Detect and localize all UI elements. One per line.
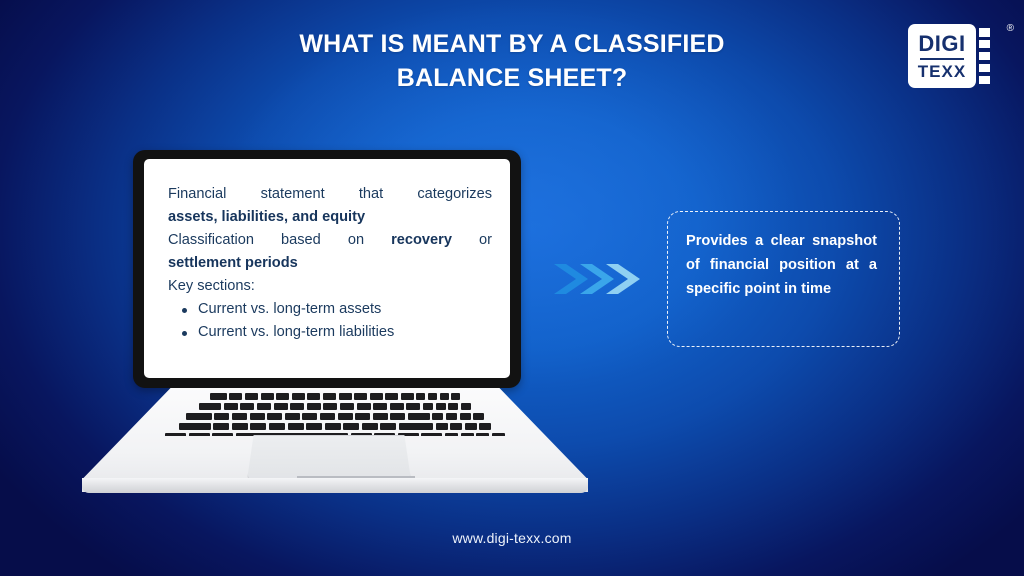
- screen-line-1-bold: assets, liabilities, and equity: [168, 206, 492, 229]
- title-line-1: WHAT IS MEANT BY A CLASSIFIED: [299, 30, 724, 58]
- keyboard-row: [82, 423, 588, 430]
- list-item: Current vs. long-term liabilities: [168, 321, 492, 344]
- digitexx-logo[interactable]: DIGI TEXX ®: [908, 24, 1004, 88]
- laptop-illustration: Financial statement that categorizes ass…: [82, 150, 588, 498]
- laptop-lid: Financial statement that categorizes ass…: [133, 150, 521, 388]
- slide-background: WHAT IS MEANT BY A CLASSIFIED BALANCE SH…: [0, 0, 1024, 576]
- callout-text: Provides a clear snapshot of financial p…: [686, 230, 877, 301]
- laptop-base-edge: [82, 478, 588, 493]
- callout-box: Provides a clear snapshot of financial p…: [667, 211, 900, 347]
- screen-line-2-plain-a: Classification based on: [168, 232, 391, 248]
- list-item: Current vs. long-term assets: [168, 298, 492, 321]
- screen-key-sections-label: Key sections:: [168, 275, 492, 298]
- logo-filmstrip-icon: [979, 24, 995, 88]
- logo-divider-rule: [920, 58, 964, 60]
- footer-url[interactable]: www.digi-texx.com: [0, 530, 1024, 546]
- laptop-trackpad: [247, 435, 411, 480]
- screen-line-1: Financial statement that categorizes: [168, 183, 492, 206]
- keyboard-row: [82, 413, 588, 420]
- screen-line-2-bold-b: settlement periods: [168, 252, 492, 275]
- triple-chevron-right-icon: [552, 258, 650, 300]
- logo-text-digi: DIGI: [918, 33, 965, 55]
- logo-text-texx: TEXX: [918, 63, 966, 80]
- keyboard-row: [82, 403, 588, 410]
- page-title: WHAT IS MEANT BY A CLASSIFIED BALANCE SH…: [0, 28, 1024, 96]
- screen-line-2: Classification based on recovery or: [168, 229, 492, 252]
- screen-line-2-plain-b: or: [452, 232, 492, 248]
- laptop-screen: Financial statement that categorizes ass…: [144, 159, 510, 378]
- laptop-keyboard: [82, 390, 588, 436]
- screen-content: Financial statement that categorizes ass…: [168, 183, 492, 344]
- screen-line-2-bold-a: recovery: [391, 232, 452, 248]
- title-line-2: BALANCE SHEET?: [0, 62, 1024, 96]
- keyboard-row: [82, 393, 588, 400]
- screen-bullet-list: Current vs. long-term assets Current vs.…: [168, 298, 492, 344]
- logo-wordmark: DIGI TEXX: [908, 24, 976, 88]
- registered-trademark-icon: ®: [1007, 23, 1014, 34]
